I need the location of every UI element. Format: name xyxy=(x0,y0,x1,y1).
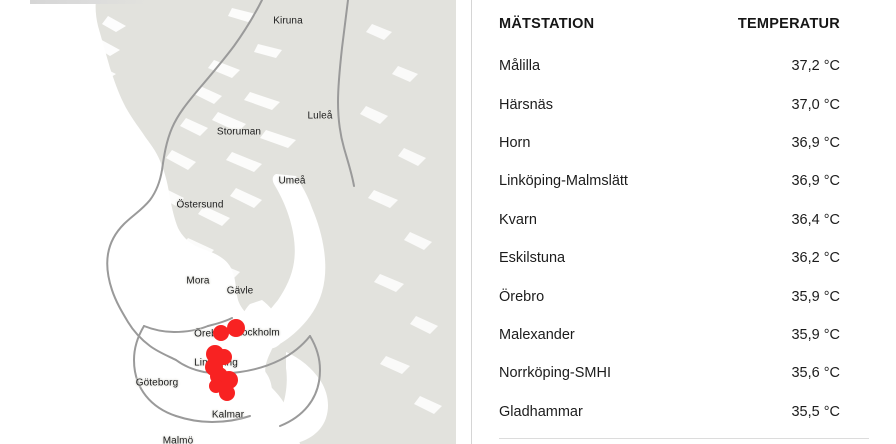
table-row[interactable]: Norrköping-SMHI 35,6 °C xyxy=(499,354,840,392)
column-header-temperature[interactable]: TEMPERATUR xyxy=(689,0,840,47)
map-label-umea: Umeå xyxy=(278,176,305,187)
cell-temperature: 35,6 °C xyxy=(689,354,840,392)
map-label-kiruna: Kiruna xyxy=(273,16,303,27)
cell-temperature: 36,2 °C xyxy=(689,239,840,277)
cell-temperature: 35,9 °C xyxy=(689,277,840,315)
table-row[interactable]: Kvarn 36,4 °C xyxy=(499,201,840,239)
cell-station: Härsnäs xyxy=(499,85,689,123)
cell-station: Horn xyxy=(499,124,689,162)
table-row[interactable]: Linköping-Malmslätt 36,9 °C xyxy=(499,162,840,200)
map-label-lulea: Luleå xyxy=(308,111,333,122)
map-panel[interactable]: Kiruna Luleå Storuman Umeå Östersund Mor… xyxy=(0,0,456,444)
map-label-kalmar: Kalmar xyxy=(212,410,244,421)
table-body: Målilla 37,2 °C Härsnäs 37,0 °C Horn 36,… xyxy=(499,47,840,431)
cell-temperature: 35,9 °C xyxy=(689,316,840,354)
table-row[interactable]: Målilla 37,2 °C xyxy=(499,47,840,85)
temperature-report-view: Kiruna Luleå Storuman Umeå Östersund Mor… xyxy=(0,0,896,444)
cell-station: Örebro xyxy=(499,277,689,315)
temperature-table: MÄTSTATION TEMPERATUR Målilla 37,2 °C Hä… xyxy=(499,0,840,431)
map-label-gavle: Gävle xyxy=(227,286,254,297)
cell-temperature: 36,4 °C xyxy=(689,201,840,239)
column-header-station[interactable]: MÄTSTATION xyxy=(499,0,689,47)
panel-gap xyxy=(456,0,471,444)
map-label-malmo: Malmö xyxy=(163,436,194,444)
cell-temperature: 37,2 °C xyxy=(689,47,840,85)
cell-station: Norrköping-SMHI xyxy=(499,354,689,392)
table-row[interactable]: Eskilstuna 36,2 °C xyxy=(499,239,840,277)
station-marker[interactable] xyxy=(227,319,245,337)
map-label-goteborg: Göteborg xyxy=(136,378,179,389)
station-marker[interactable] xyxy=(219,385,235,401)
cell-station: Gladhammar xyxy=(499,393,689,431)
cell-temperature: 37,0 °C xyxy=(689,85,840,123)
map-label-storuman: Storuman xyxy=(217,127,261,138)
cell-temperature: 36,9 °C xyxy=(689,162,840,200)
table-row[interactable]: Horn 36,9 °C xyxy=(499,124,840,162)
cell-temperature: 35,5 °C xyxy=(689,393,840,431)
map-label-ostersund: Östersund xyxy=(176,200,223,211)
map-label-mora: Mora xyxy=(186,276,209,287)
cell-station: Eskilstuna xyxy=(499,239,689,277)
cell-temperature: 36,9 °C xyxy=(689,124,840,162)
cell-station: Målilla xyxy=(499,47,689,85)
cell-station: Kvarn xyxy=(499,201,689,239)
table-row[interactable]: Gladhammar 35,5 °C xyxy=(499,393,840,431)
table-bottom-rule xyxy=(499,438,869,439)
cell-station: Linköping-Malmslätt xyxy=(499,162,689,200)
table-header: MÄTSTATION TEMPERATUR xyxy=(499,0,840,47)
table-row[interactable]: Malexander 35,9 °C xyxy=(499,316,840,354)
cell-station: Malexander xyxy=(499,316,689,354)
table-row[interactable]: Härsnäs 37,0 °C xyxy=(499,85,840,123)
table-panel: MÄTSTATION TEMPERATUR Målilla 37,2 °C Hä… xyxy=(472,0,896,444)
table-header-row: MÄTSTATION TEMPERATUR xyxy=(499,0,840,47)
table-row[interactable]: Örebro 35,9 °C xyxy=(499,277,840,315)
